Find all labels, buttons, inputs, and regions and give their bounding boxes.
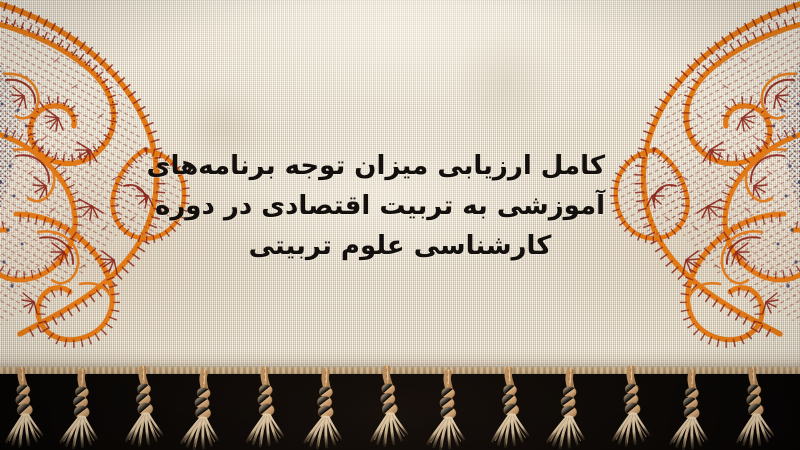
title-line-1: کامل ارزیابی میزان توجه برنامه‌های: [195, 146, 605, 186]
page-title: کامل ارزیابی میزان توجه برنامه‌های آموزش…: [195, 146, 605, 266]
title-line-2: آموزشی به تربیت اقتصادی در دوره: [195, 186, 605, 226]
cloth-hem-edge: [0, 352, 800, 374]
title-card-canvas: کامل ارزیابی میزان توجه برنامه‌های آموزش…: [0, 0, 800, 450]
title-line-3: کارشناسی علوم تربیتی: [195, 226, 605, 266]
